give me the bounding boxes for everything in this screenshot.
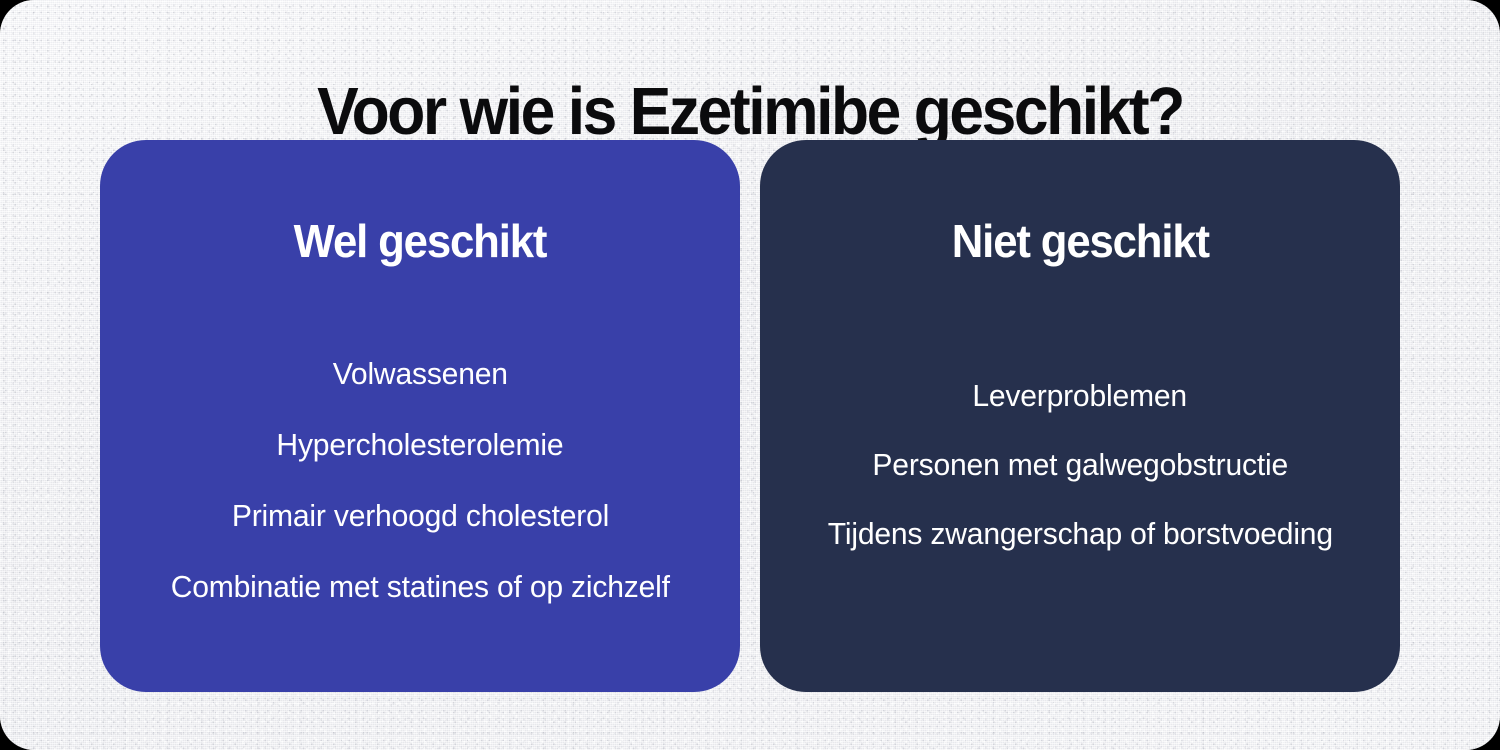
card-unsuitable-list: Leverproblemen Personen met galwegobstru… bbox=[784, 308, 1376, 666]
card-suitable: Wel geschikt Volwassenen Hypercholestero… bbox=[100, 140, 740, 692]
comparison-cards: Wel geschikt Volwassenen Hypercholestero… bbox=[100, 140, 1400, 692]
list-item: Personen met galwegobstructie bbox=[872, 445, 1288, 484]
list-item: Hypercholesterolemie bbox=[277, 425, 564, 464]
list-item: Tijdens zwangerschap of borstvoeding bbox=[827, 514, 1332, 553]
card-unsuitable: Niet geschikt Leverproblemen Personen me… bbox=[760, 140, 1400, 692]
page-canvas: Voor wie is Ezetimibe geschikt? Wel gesc… bbox=[0, 0, 1500, 750]
card-unsuitable-heading: Niet geschikt bbox=[951, 212, 1208, 270]
page-content: Voor wie is Ezetimibe geschikt? Wel gesc… bbox=[0, 0, 1500, 750]
list-item: Leverproblemen bbox=[973, 376, 1188, 415]
card-suitable-heading: Wel geschikt bbox=[294, 212, 547, 270]
list-item: Primair verhoogd cholesterol bbox=[231, 496, 608, 535]
card-suitable-list: Volwassenen Hypercholesterolemie Primair… bbox=[124, 308, 716, 666]
list-item: Volwassenen bbox=[332, 354, 507, 393]
list-item: Combinatie met statines of op zichzelf bbox=[170, 567, 669, 606]
